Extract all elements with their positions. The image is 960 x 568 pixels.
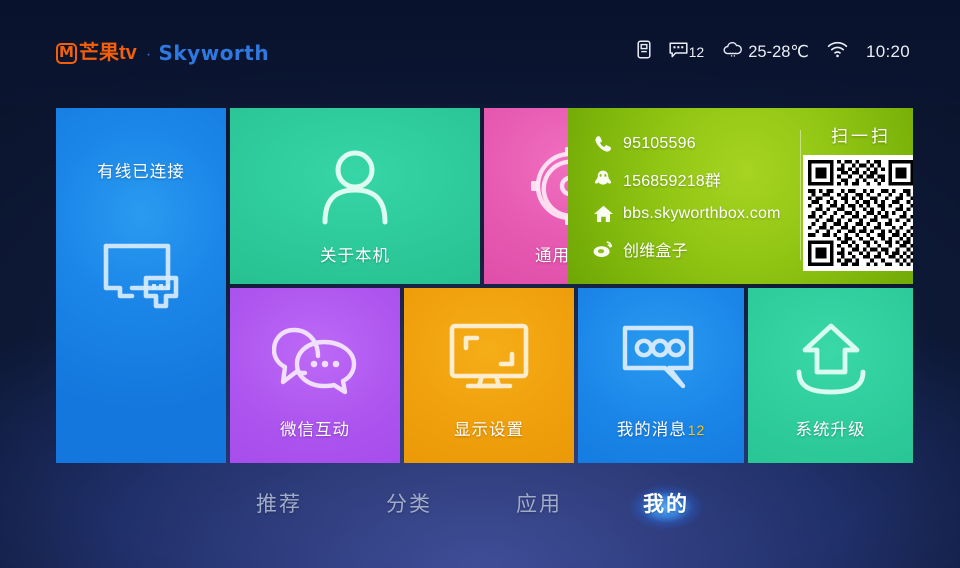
message-badge: 12: [688, 422, 706, 438]
message-status: 12: [669, 42, 705, 63]
chat-bubbles-icon: [230, 320, 400, 396]
qr-code-icon[interactable]: [803, 155, 913, 271]
brand-mango-label: 芒果tv: [79, 43, 137, 63]
tile-about-label: 关于本机: [230, 242, 480, 266]
contact-row-phone: 95105596: [590, 126, 785, 161]
contact-list: 95105596 156859218群: [590, 126, 785, 266]
message-count-label: 12: [689, 44, 705, 60]
tile-my-messages[interactable]: 我的消息12: [578, 288, 744, 463]
weibo-icon: [590, 239, 616, 259]
tile-my-messages-label: 我的消息12: [578, 416, 744, 440]
nav-item-apps[interactable]: 应用: [492, 482, 586, 528]
tv-home-screen: 芒果tv · Skyworth: [0, 0, 960, 568]
scan-title-label: 扫一扫: [820, 122, 902, 147]
tile-contact-info[interactable]: 95105596 156859218群: [568, 108, 913, 284]
wifi-icon: [827, 41, 848, 63]
usb-icon: [637, 40, 651, 64]
tile-about[interactable]: 关于本机: [230, 108, 480, 284]
upload-arrow-icon: [748, 320, 913, 396]
monitor-ethernet-icon: [56, 238, 226, 314]
monitor-icon: [404, 320, 574, 396]
tile-wechat[interactable]: 微信互动: [230, 288, 400, 463]
mango-tv-logo-icon: [56, 43, 77, 64]
qq-penguin-icon: [590, 169, 616, 189]
contact-weibo-label: 创维盒子: [623, 237, 688, 261]
tile-wechat-label: 微信互动: [230, 416, 400, 440]
message-bubble-icon: [578, 322, 744, 396]
cloud-rain-icon: [722, 41, 744, 64]
tile-grid: 有线已连接 网络: [56, 108, 913, 463]
tile-display-settings[interactable]: 显示设置: [404, 288, 574, 463]
usb-status: [637, 40, 651, 64]
tile-network[interactable]: 有线已连接 网络: [56, 108, 226, 463]
message-icon: [669, 42, 688, 63]
weather-status: 25-28℃: [722, 41, 809, 64]
temperature-label: 25-28℃: [748, 42, 809, 62]
contact-website-label: bbs.skyworthbox.com: [623, 205, 781, 223]
tile-system-upgrade[interactable]: 系统升级: [748, 288, 913, 463]
top-status-bar: 芒果tv · Skyworth: [0, 0, 960, 104]
clock-label: 10:20: [866, 42, 910, 62]
brand-skyworth-label: Skyworth: [158, 43, 269, 63]
bottom-nav: 推荐 分类 应用 我的: [0, 482, 960, 538]
tile-display-settings-label: 显示设置: [404, 416, 574, 440]
status-indicators: 12 25-28℃: [637, 38, 910, 66]
contact-row-weibo: 创维盒子: [590, 231, 785, 266]
person-icon: [230, 146, 480, 228]
clock: 10:20: [866, 42, 910, 62]
brand-logo: 芒果tv · Skyworth: [56, 38, 269, 68]
tile-system-upgrade-label: 系统升级: [748, 416, 913, 440]
contact-row-website: bbs.skyworthbox.com: [590, 196, 785, 231]
phone-icon: [590, 134, 616, 154]
contact-row-qq: 156859218群: [590, 161, 785, 196]
contact-phone-label: 95105596: [623, 135, 696, 153]
wifi-status: [827, 41, 848, 63]
brand-separator: ·: [146, 45, 152, 62]
nav-item-recommend[interactable]: 推荐: [232, 482, 326, 528]
contact-qq-label: 156859218群: [623, 167, 721, 191]
nav-item-mine[interactable]: 我的: [620, 482, 712, 528]
scan-section: 扫一扫: [820, 122, 902, 271]
contact-divider: [800, 130, 801, 260]
home-icon: [590, 204, 616, 224]
tile-my-messages-text: 我的消息: [617, 421, 687, 439]
nav-item-category[interactable]: 分类: [362, 482, 456, 528]
network-status-label: 有线已连接: [56, 158, 226, 182]
